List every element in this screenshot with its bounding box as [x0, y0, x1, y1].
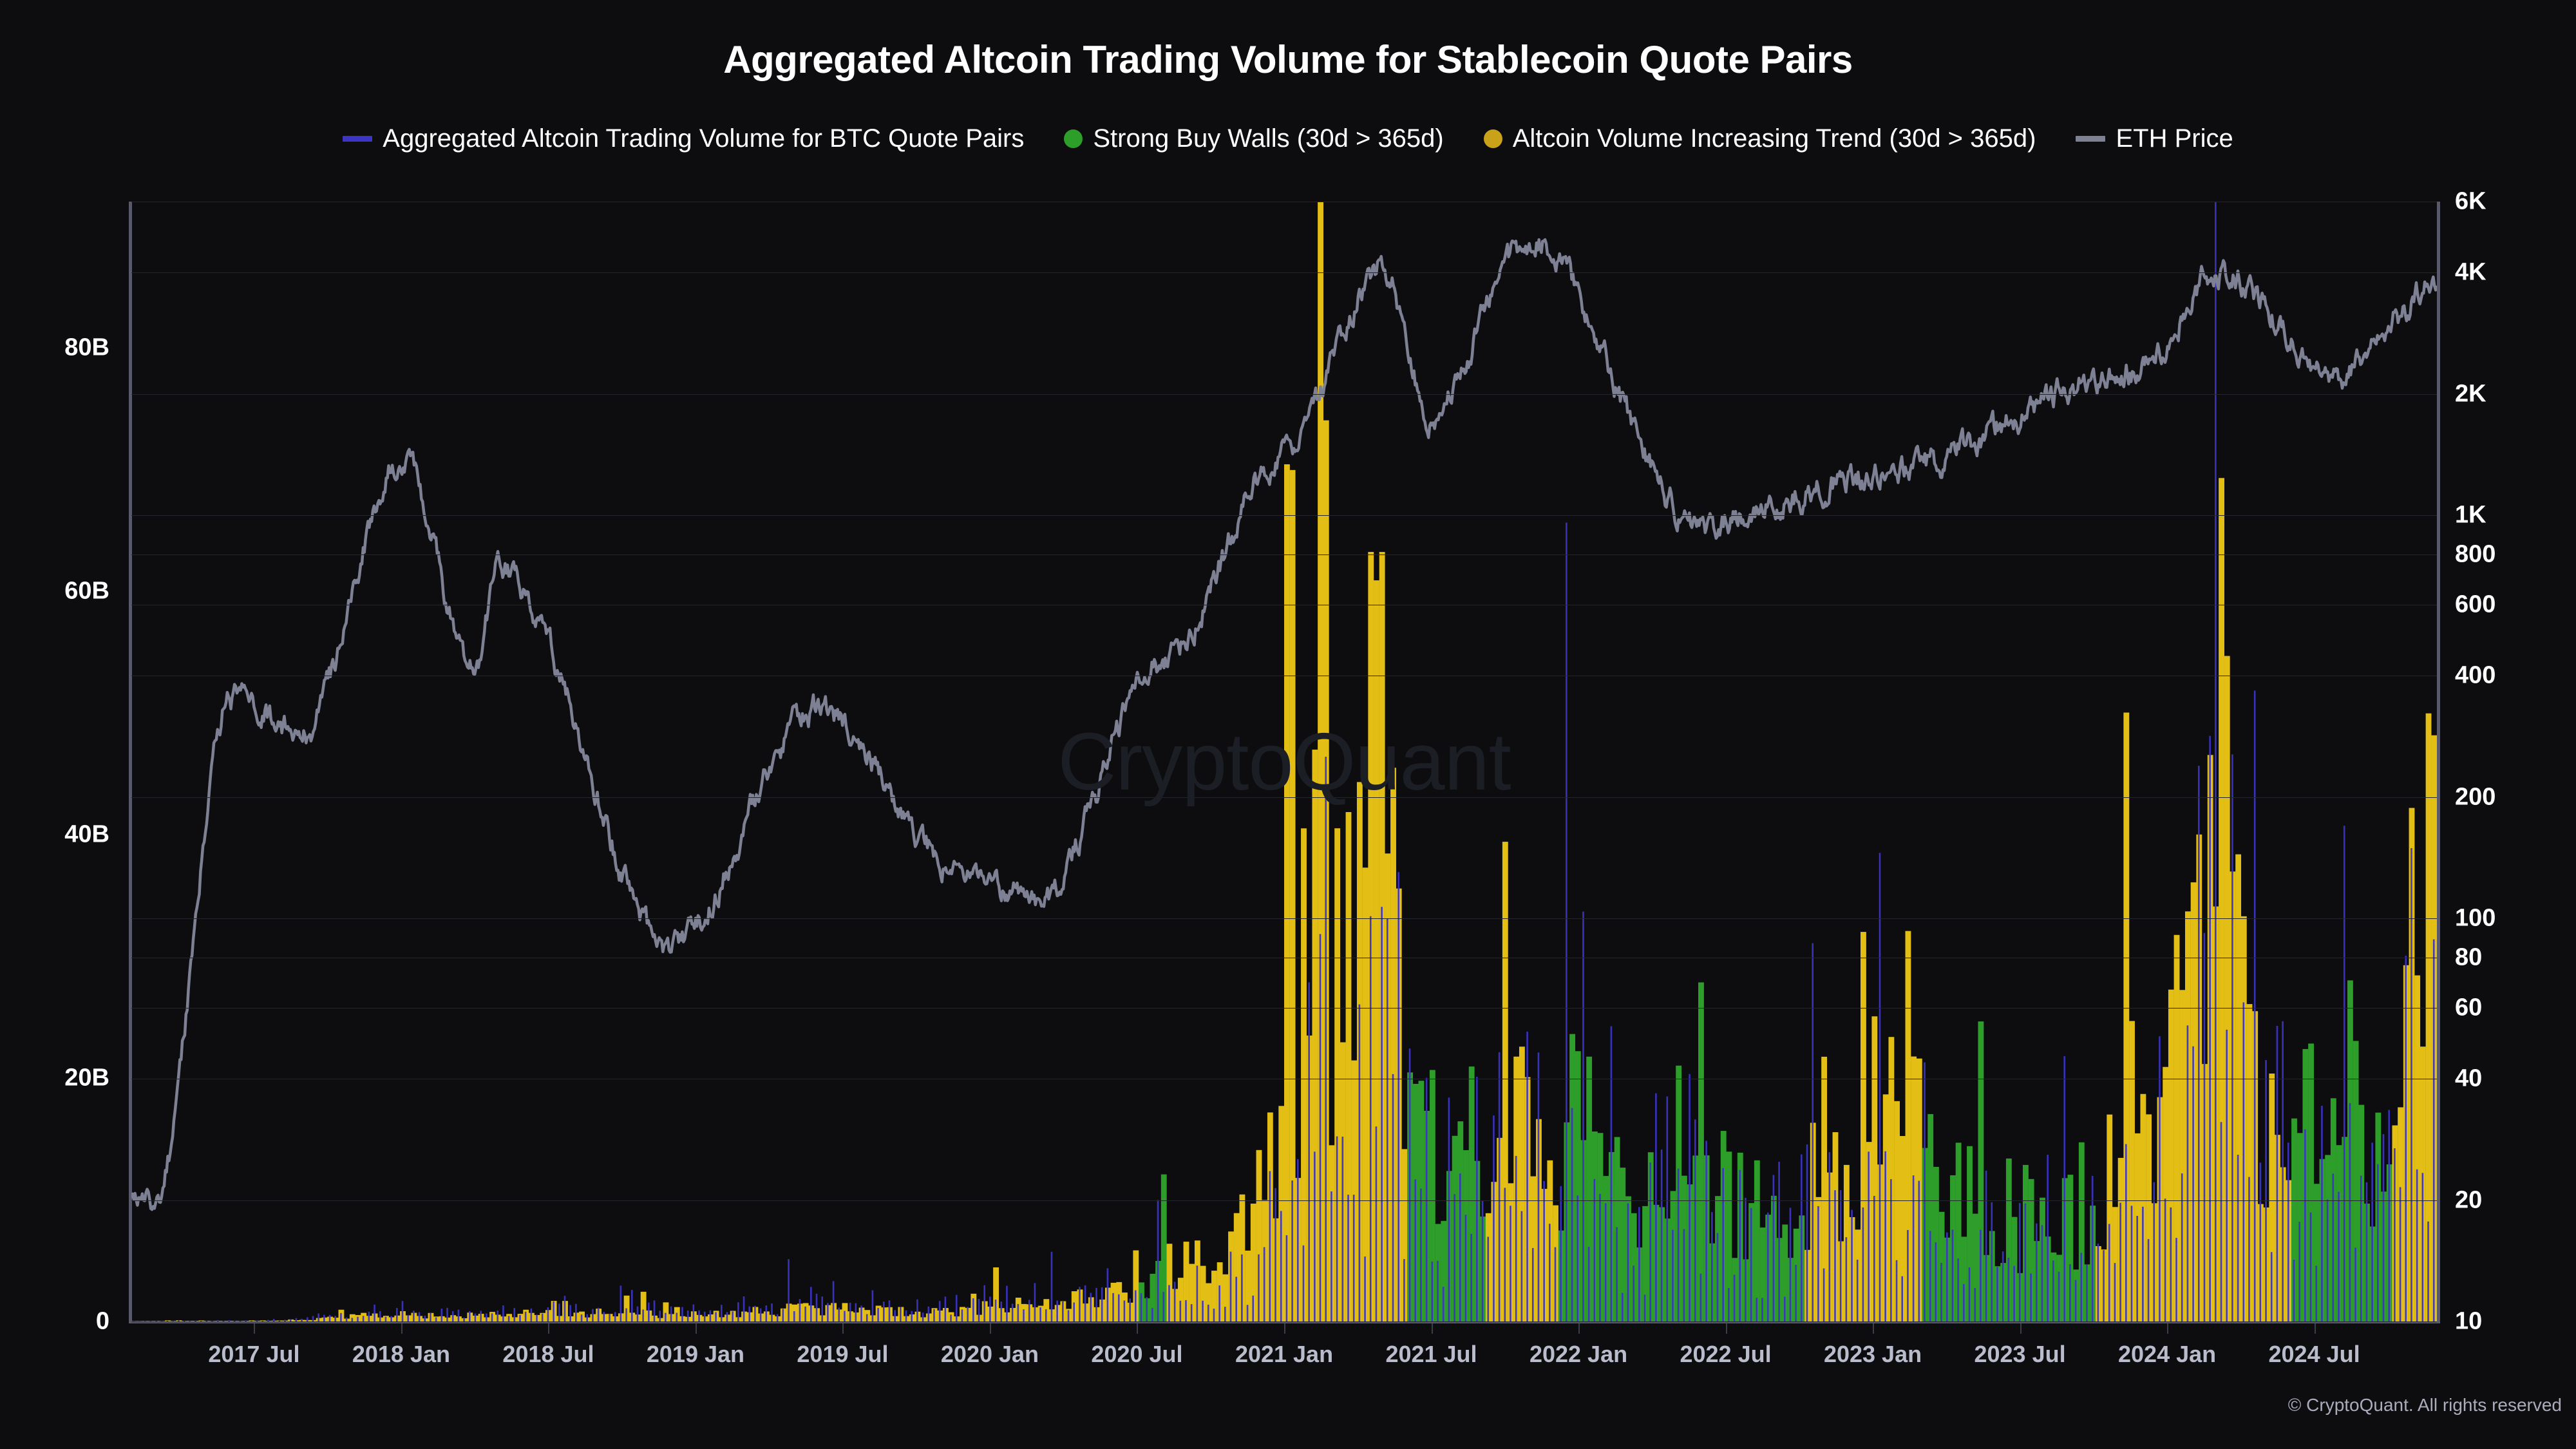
gridline [131, 554, 2437, 555]
x-axis-tick-label: 2024 Jan [2118, 1341, 2216, 1368]
right-axis-tick-label: 200 [2455, 783, 2495, 811]
x-axis-tick-label: 2019 Jul [797, 1341, 888, 1368]
right-axis-tick-label: 2K [2455, 380, 2486, 408]
left-axis-tick-label: 40B [64, 820, 109, 848]
x-axis-tick-label: 2022 Jan [1529, 1341, 1627, 1368]
x-axis-tick-mark [990, 1323, 991, 1334]
gridline [131, 918, 2437, 919]
right-axis-tick-label: 20 [2455, 1186, 2482, 1214]
x-axis-tick-mark [842, 1323, 844, 1334]
x-axis-tick-mark [2315, 1323, 2316, 1334]
left-axis-tick-label: 60B [64, 577, 109, 605]
x-axis-tick-mark [1137, 1323, 1138, 1334]
x-axis-tick-mark [696, 1323, 697, 1334]
right-axis-tick-label: 600 [2455, 591, 2495, 618]
right-axis-tick-label: 10 [2455, 1308, 2482, 1336]
page-title: Aggregated Altcoin Trading Volume for St… [0, 37, 2576, 82]
x-axis-tick-mark [1578, 1323, 1580, 1334]
gridline [131, 1200, 2437, 1201]
gridline [131, 515, 2437, 516]
x-axis-tick-label: 2017 Jul [208, 1341, 299, 1368]
gridline [131, 394, 2437, 395]
gridline [131, 676, 2437, 676]
legend-line-swatch-icon [2076, 136, 2105, 142]
legend-item-label: Strong Buy Walls (30d > 365d) [1093, 126, 1443, 151]
x-axis-tick-label: 2022 Jul [1680, 1341, 1771, 1368]
chart-container: Aggregated Altcoin Trading Volume for St… [0, 0, 2576, 1449]
gridline [131, 1008, 2437, 1009]
x-axis-tick-mark [1284, 1323, 1285, 1334]
legend-dot-swatch-icon [1484, 129, 1502, 148]
x-axis-tick-mark [548, 1323, 549, 1334]
x-axis-tick-mark [254, 1323, 255, 1334]
right-axis-tick-label: 40 [2455, 1065, 2482, 1093]
x-axis-tick-label: 2021 Jan [1235, 1341, 1333, 1368]
right-axis-tick-label: 6K [2455, 188, 2486, 216]
legend-item-label: ETH Price [2116, 126, 2233, 151]
legend-btc-quote-volume[interactable]: Aggregated Altcoin Trading Volume for BT… [343, 126, 1024, 151]
gridline [131, 272, 2437, 273]
plot-area[interactable]: CryptoQuant [131, 202, 2437, 1321]
x-axis-tick-mark [2020, 1323, 2022, 1334]
right-axis-tick-label: 1K [2455, 502, 2486, 529]
gridline [131, 1079, 2437, 1079]
x-axis-tick-mark [1726, 1323, 1727, 1334]
legend-item-label: Altcoin Volume Increasing Trend (30d > 3… [1513, 126, 2036, 151]
copyright-credit: © CryptoQuant. All rights reserved [2288, 1395, 2562, 1416]
gridline [131, 958, 2437, 958]
legend-eth-price[interactable]: ETH Price [2076, 126, 2233, 151]
x-axis-tick-label: 2018 Jul [502, 1341, 594, 1368]
gridline [131, 605, 2437, 605]
stablecoin-volume-bars [131, 202, 2437, 1321]
legend-altcoin-volume-increasing[interactable]: Altcoin Volume Increasing Trend (30d > 3… [1484, 126, 2036, 151]
x-axis-tick-mark [1432, 1323, 1433, 1334]
x-axis-tick-label: 2024 Jul [2269, 1341, 2360, 1368]
right-axis-spine [2437, 202, 2440, 1323]
x-axis-tick-label: 2020 Jan [941, 1341, 1039, 1368]
gridline [131, 202, 2437, 202]
right-axis-tick-label: 400 [2455, 662, 2495, 690]
right-axis-tick-label: 60 [2455, 994, 2482, 1021]
x-axis-tick-label: 2023 Jan [1824, 1341, 1922, 1368]
gridline [131, 797, 2437, 798]
right-axis-tick-label: 800 [2455, 540, 2495, 568]
x-axis-tick-label: 2019 Jan [647, 1341, 744, 1368]
left-axis-tick-label: 0 [96, 1308, 109, 1336]
right-axis-tick-label: 80 [2455, 943, 2482, 971]
x-axis-tick-mark [1873, 1323, 1874, 1334]
legend-dot-swatch-icon [1064, 129, 1083, 148]
x-axis-tick-label: 2020 Jul [1091, 1341, 1182, 1368]
chart-legend: Aggregated Altcoin Trading Volume for BT… [0, 126, 2576, 151]
x-axis-tick-mark [2167, 1323, 2168, 1334]
x-axis-tick-label: 2023 Jul [1974, 1341, 2065, 1368]
x-axis-tick-label: 2021 Jul [1385, 1341, 1477, 1368]
right-axis-tick-label: 4K [2455, 259, 2486, 287]
left-axis-tick-label: 20B [64, 1064, 109, 1092]
x-axis-tick-mark [401, 1323, 402, 1334]
legend-line-swatch-icon [343, 136, 372, 142]
plot-canvas [131, 202, 2437, 1321]
left-axis-tick-label: 80B [64, 334, 109, 361]
gridline [131, 1321, 2437, 1322]
legend-strong-buy-walls[interactable]: Strong Buy Walls (30d > 365d) [1064, 126, 1443, 151]
legend-item-label: Aggregated Altcoin Trading Volume for BT… [383, 126, 1024, 151]
x-axis-tick-label: 2018 Jan [352, 1341, 450, 1368]
right-axis-tick-label: 100 [2455, 905, 2495, 933]
